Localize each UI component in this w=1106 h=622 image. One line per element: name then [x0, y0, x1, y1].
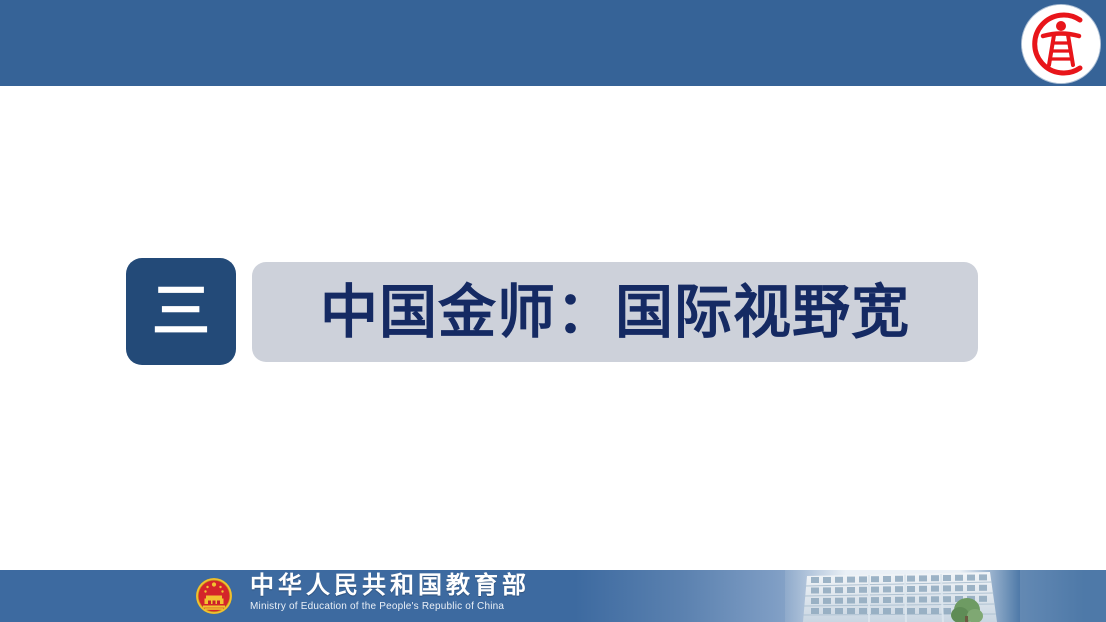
- footer-org-name-en: Ministry of Education of the People's Re…: [250, 600, 590, 614]
- footer-org-text: 中华人民共和国教育部 Ministry of Education of the …: [250, 570, 590, 622]
- section-title-bar: 中国金师：国际视野宽: [252, 262, 978, 362]
- footer-org-name-cn: 中华人民共和国教育部: [250, 570, 590, 600]
- section-title-text: 中国金师：国际视野宽: [320, 283, 910, 341]
- section-number-text: 三: [152, 283, 210, 341]
- section-heading-row: 三 中国金师：国际视野宽: [126, 258, 978, 365]
- institution-circular-logo: [1022, 5, 1100, 83]
- section-number-badge: 三: [126, 258, 236, 365]
- ministry-building-photo: [785, 570, 1020, 622]
- header-band: [0, 0, 1106, 86]
- slide-root: 三 中国金师：国际视野宽: [0, 0, 1106, 622]
- china-national-emblem: [195, 576, 233, 616]
